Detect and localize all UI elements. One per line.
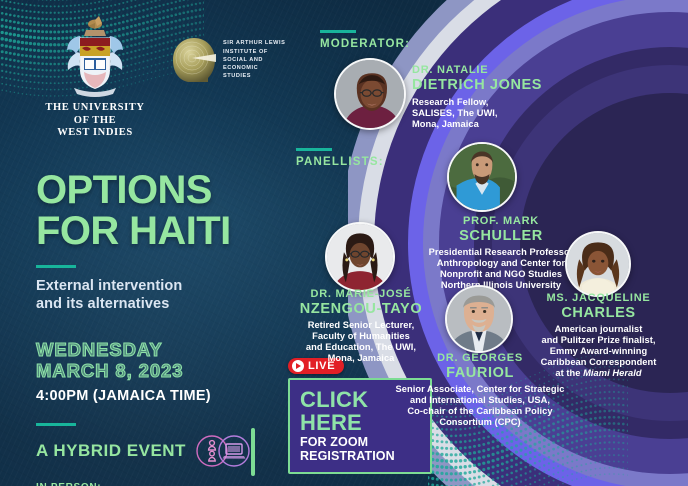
moderator-label: MODERATOR: xyxy=(320,38,410,50)
hybrid-row: A HYBRID EVENT xyxy=(36,434,304,468)
event-time: 4:00PM (JAMAICA TIME) xyxy=(36,388,304,404)
cta-subtext: FOR ZOOM REGISTRATION xyxy=(300,435,420,463)
title-line-1: OPTIONS xyxy=(36,170,304,211)
event-flyer: THE UNIVERSITY OF THE WEST INDIES xyxy=(0,0,688,486)
salises-logo: SIR ARTHUR LEWIS INSTITUTE OF SOCIAL AND… xyxy=(170,36,285,84)
left-column: THE UNIVERSITY OF THE WEST INDIES xyxy=(36,14,304,486)
panellists-section-heading: PANELLISTS: xyxy=(296,148,384,168)
title-divider xyxy=(36,265,76,268)
charles-name-line-2: CHARLES xyxy=(529,305,668,321)
moderator-desc-line-1: Research Fellow, xyxy=(412,97,562,108)
moderator-description: Research Fellow, SALISES, The UWI, Mona,… xyxy=(412,97,562,131)
nzengou-desc-line-2: Faculty of Humanities xyxy=(296,331,426,342)
laptop-online-icon xyxy=(222,444,245,459)
fauriol-desc-line-1: Senior Associate, Center for Strategic xyxy=(382,384,578,395)
charles-publication: Miami Herald xyxy=(583,368,641,378)
format-divider xyxy=(36,423,76,426)
moderator-desc-line-2: SALISES, The UWI, xyxy=(412,108,562,119)
hybrid-icons xyxy=(194,434,256,468)
subtitle-line-2: and its alternatives xyxy=(36,295,304,313)
salises-line-2: INSTITUTE OF xyxy=(223,48,285,56)
fauriol-description: Senior Associate, Center for Strategic a… xyxy=(382,384,578,429)
nzengou-name-line-1: DR. MARIE-JOSÉ xyxy=(296,288,426,301)
section-divider-vertical xyxy=(251,428,255,476)
panellists-divider xyxy=(296,148,332,151)
salises-text: SIR ARTHUR LEWIS INSTITUTE OF SOCIAL AND… xyxy=(223,39,285,80)
panellists-label: PANELLISTS: xyxy=(296,156,384,168)
moderator-name-line-1: DR. NATALIE xyxy=(412,64,562,77)
in-person-label: IN PERSON: xyxy=(36,482,304,486)
uwi-coat-of-arms-icon xyxy=(58,14,132,98)
salises-head-logo-icon xyxy=(170,36,218,84)
salises-line-5: STUDIES xyxy=(223,72,285,80)
fauriol-desc-line-3: Co-chair of the Caribbean Policy xyxy=(382,406,578,417)
uwi-name-line-1: THE UNIVERSITY xyxy=(36,102,154,115)
nzengou-desc-line-1: Retired Senior Lecturer, xyxy=(296,320,426,331)
uwi-name: THE UNIVERSITY OF THE WEST INDIES xyxy=(36,102,154,140)
title-line-2: FOR HAITI xyxy=(36,211,304,252)
portrait-marie-jose-nzengou-tayo xyxy=(325,222,395,292)
subtitle-line-1: External intervention xyxy=(36,277,304,295)
salises-line-1: SIR ARTHUR LEWIS xyxy=(223,39,285,47)
uwi-name-line-3: WEST INDIES xyxy=(36,127,154,140)
charles-name-line-1: MS. JACQUELINE xyxy=(529,292,668,305)
uwi-logo: THE UNIVERSITY OF THE WEST INDIES xyxy=(36,14,154,140)
fauriol-name-line-2: FAURIOL xyxy=(382,365,578,381)
event-subtitle: External intervention and its alternativ… xyxy=(36,277,304,313)
salises-line-4: ECONOMIC xyxy=(223,64,285,72)
fauriol-desc-line-4: Consortium (CPC) xyxy=(382,417,578,428)
moderator-section-heading: MODERATOR: xyxy=(320,30,410,50)
date-line-1: WEDNESDAY xyxy=(36,339,304,360)
moderator-divider xyxy=(320,30,356,33)
portrait-georges-fauriol xyxy=(445,285,513,353)
nzengou-name-line-2: NZENGOU-TAYO xyxy=(296,301,426,317)
moderator-name-line-2: DIETRICH JONES xyxy=(412,77,562,93)
charles-desc-line-1: American journalist xyxy=(529,324,668,335)
charles-desc-line-2: and Pulitzer Prize finalist, xyxy=(529,335,668,346)
logo-row: THE UNIVERSITY OF THE WEST INDIES xyxy=(36,14,304,140)
salises-line-3: SOCIAL AND xyxy=(223,56,285,64)
fauriol-desc-line-2: and International Studies, USA, xyxy=(382,395,578,406)
event-format-label: A HYBRID EVENT xyxy=(36,441,186,461)
panellist-georges-fauriol-text: DR. GEORGES FAURIOL Senior Associate, Ce… xyxy=(382,352,578,428)
fauriol-name-line-1: DR. GEORGES xyxy=(382,352,578,365)
event-date: WEDNESDAY MARCH 8, 2023 xyxy=(36,339,304,381)
portrait-jacqueline-charles xyxy=(565,231,631,297)
people-in-person-icon xyxy=(209,440,216,460)
schuller-name-line-1: PROF. MARK xyxy=(385,215,617,228)
page-title: OPTIONS FOR HAITI xyxy=(36,170,304,252)
portrait-natalie-dietrich-jones xyxy=(334,58,406,130)
uwi-name-line-2: OF THE xyxy=(36,115,154,128)
moderator-desc-line-3: Mona, Jamaica xyxy=(412,119,562,130)
portrait-mark-schuller xyxy=(447,142,517,212)
moderator-person-text: DR. NATALIE DIETRICH JONES Research Fell… xyxy=(412,64,562,130)
date-line-2: MARCH 8, 2023 xyxy=(36,360,304,381)
